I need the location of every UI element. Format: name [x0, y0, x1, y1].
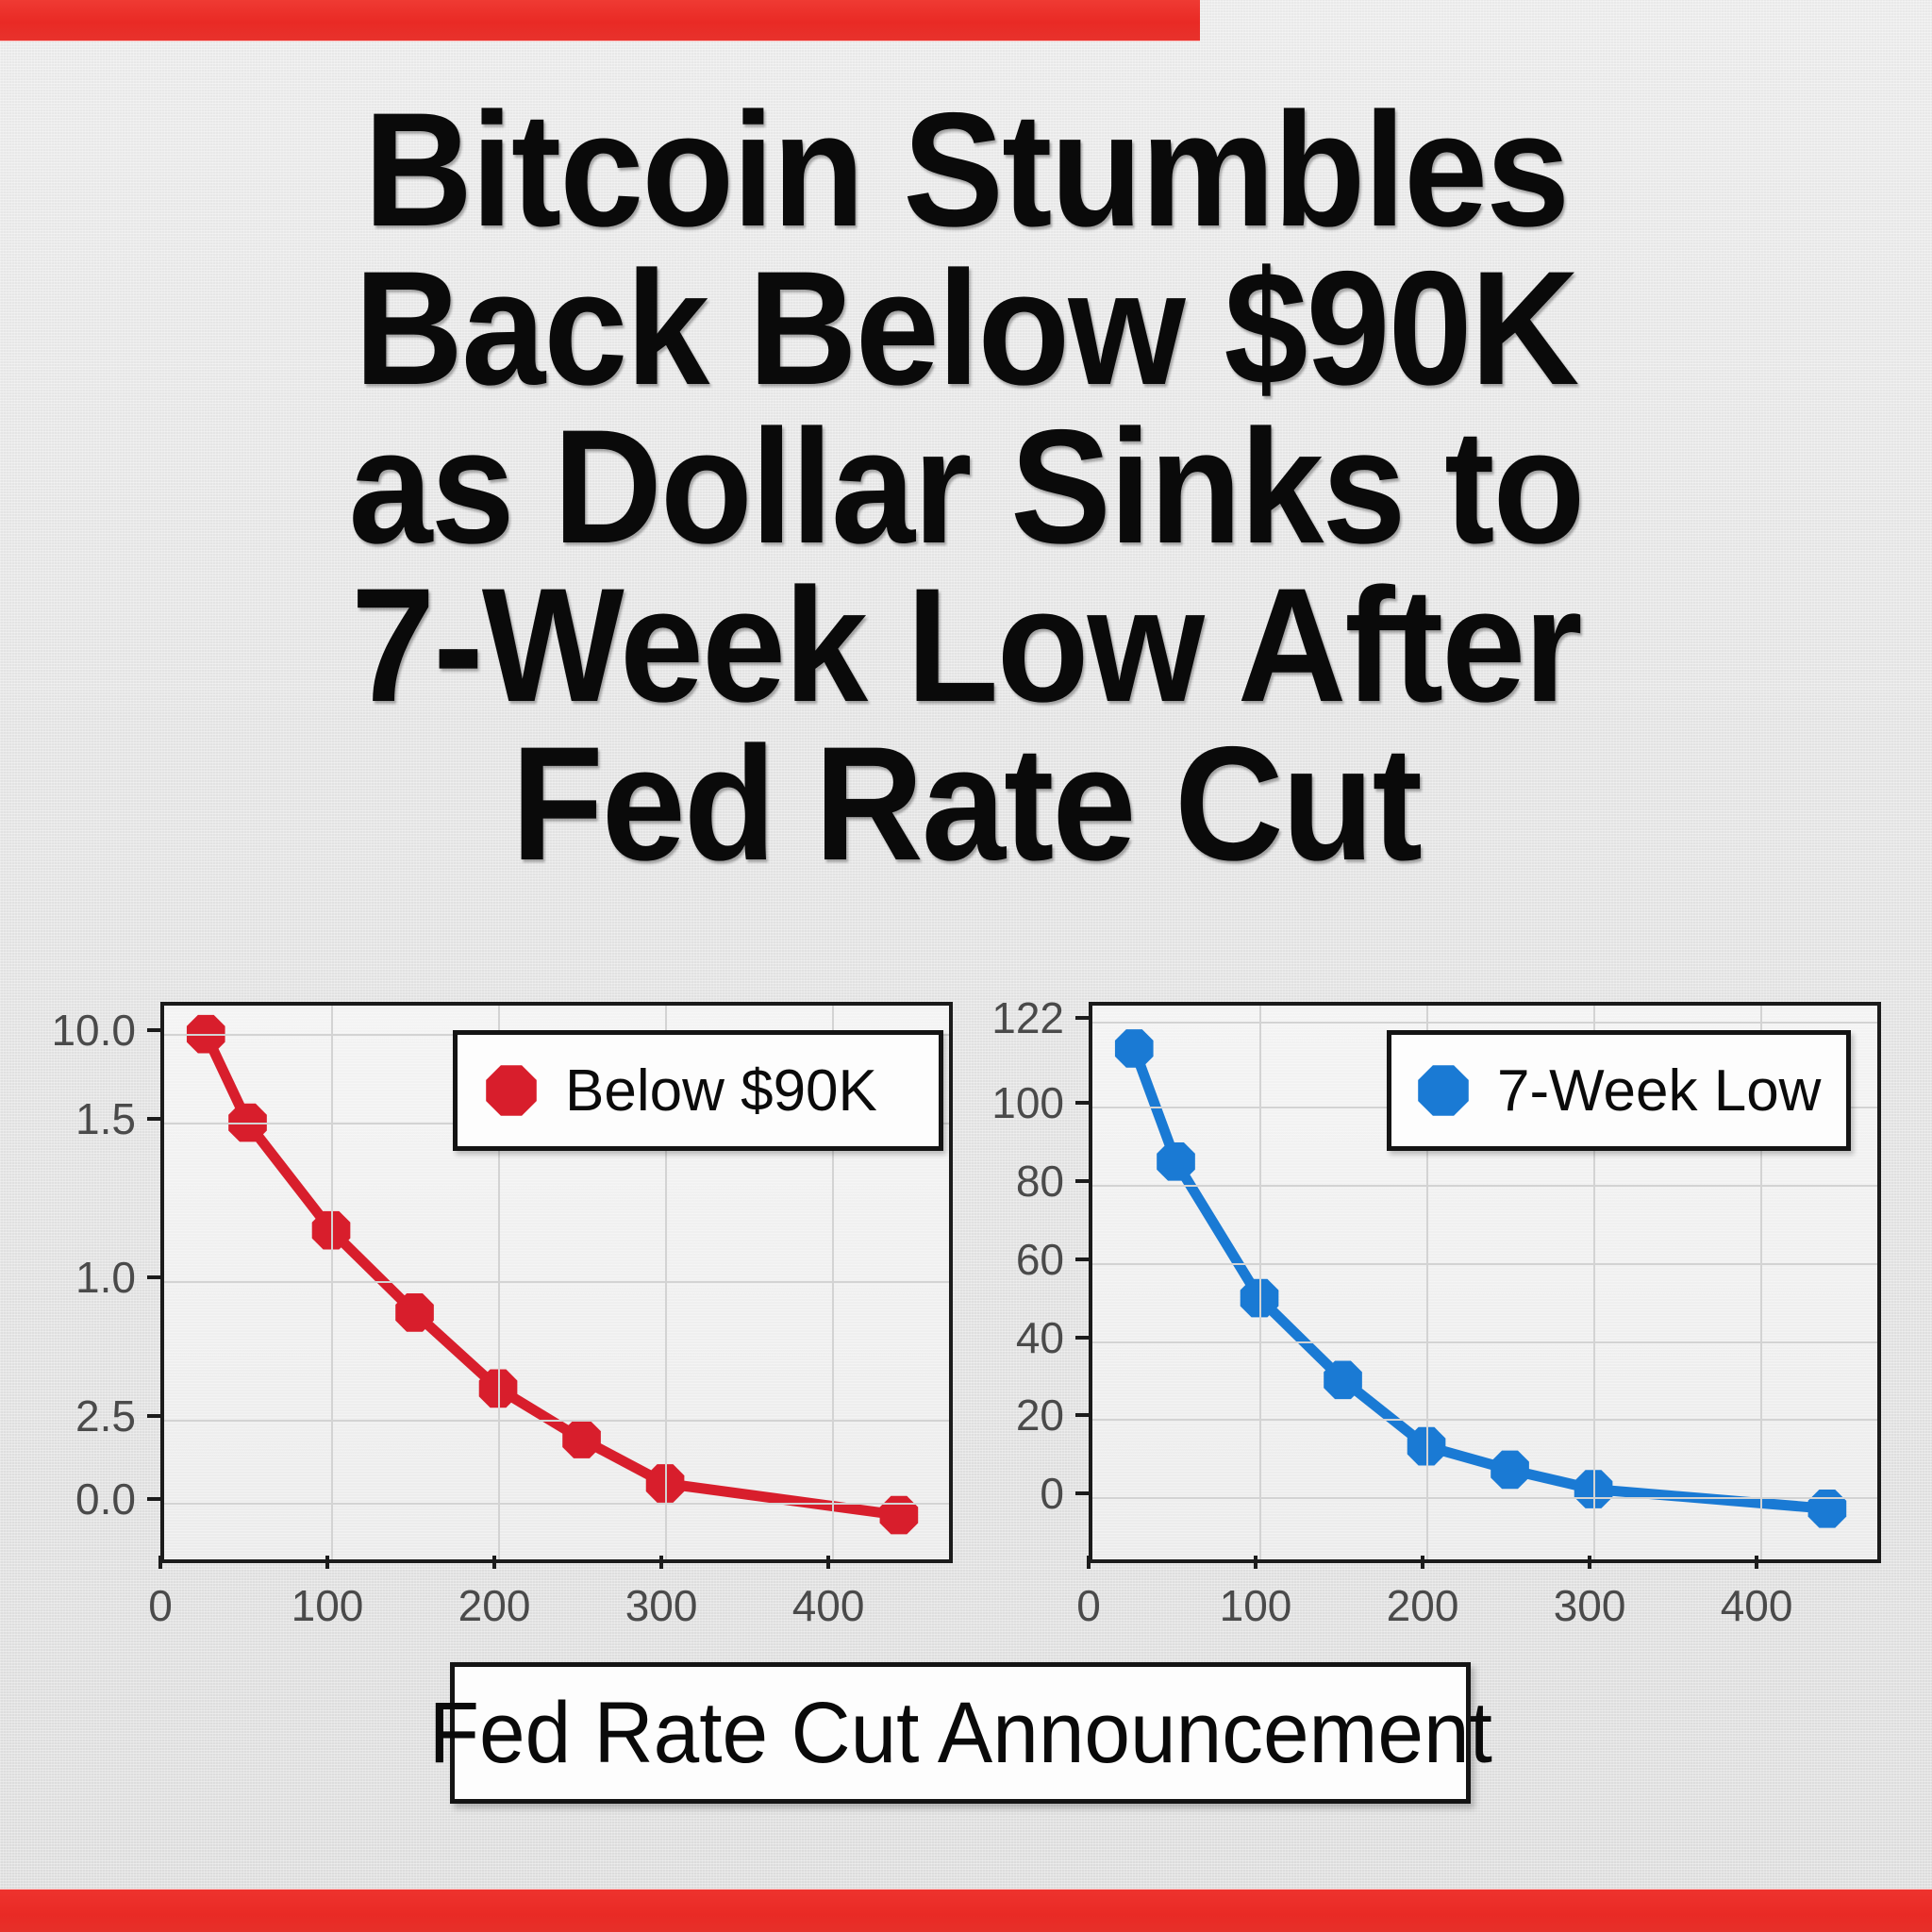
x-tick-mark	[1755, 1556, 1758, 1569]
data-point-marker	[1157, 1142, 1195, 1181]
caption-banner: Fed Rate Cut Announcement	[450, 1662, 1471, 1804]
charts-region: Below $90K 10.01.51.02.50.00100200300400…	[0, 981, 1932, 1679]
x-tick-mark	[826, 1556, 830, 1569]
gridline-vertical	[1259, 1006, 1261, 1559]
y-tick-label: 1.5	[0, 1093, 136, 1144]
y-tick-mark	[1075, 1413, 1089, 1417]
y-tick-label: 100	[966, 1077, 1064, 1128]
data-point-marker	[562, 1420, 601, 1458]
y-tick-mark	[1075, 1016, 1089, 1020]
chart-panel-left: Below $90K 10.01.51.02.50.00100200300400	[0, 981, 966, 1679]
y-tick-label: 10.0	[0, 1005, 136, 1056]
x-tick-mark	[659, 1556, 663, 1569]
y-tick-label: 2.5	[0, 1391, 136, 1441]
y-tick-label: 0	[966, 1468, 1064, 1519]
x-tick-mark	[158, 1556, 162, 1569]
x-tick-mark	[1421, 1556, 1424, 1569]
x-tick-label: 300	[1554, 1580, 1626, 1631]
y-tick-label: 20	[966, 1390, 1064, 1441]
y-tick-mark	[1075, 1336, 1089, 1340]
legend-marker-icon-left	[482, 1061, 541, 1120]
data-point-marker	[1115, 1029, 1154, 1068]
legend-left[interactable]: Below $90K	[453, 1030, 943, 1151]
poster-canvas: Bitcoin Stumbles Back Below $90K as Doll…	[0, 0, 1932, 1932]
y-tick-label: 80	[966, 1156, 1064, 1207]
x-tick-label: 0	[1076, 1580, 1101, 1631]
y-tick-label: 0.0	[0, 1474, 136, 1524]
y-tick-label: 1.0	[0, 1252, 136, 1303]
y-tick-mark	[1075, 1179, 1089, 1183]
legend-marker-icon-right	[1414, 1061, 1473, 1120]
legend-label-left: Below $90K	[565, 1058, 877, 1124]
y-tick-label: 122	[966, 992, 1064, 1043]
x-tick-label: 300	[625, 1580, 698, 1631]
gridline-vertical	[331, 1006, 333, 1559]
legend-right[interactable]: 7-Week Low	[1387, 1030, 1851, 1151]
y-tick-mark	[147, 1497, 160, 1501]
x-tick-label: 100	[291, 1580, 364, 1631]
x-tick-label: 200	[458, 1580, 531, 1631]
data-point-marker	[1491, 1451, 1529, 1490]
y-tick-label: 60	[966, 1234, 1064, 1285]
data-point-marker	[1324, 1361, 1362, 1400]
x-tick-mark	[325, 1556, 329, 1569]
x-tick-mark	[1254, 1556, 1257, 1569]
y-tick-mark	[147, 1028, 160, 1032]
caption-label: Fed Rate Cut Announcement	[428, 1684, 1491, 1783]
x-tick-label: 400	[1721, 1580, 1793, 1631]
y-tick-mark	[147, 1414, 160, 1418]
y-tick-mark	[147, 1117, 160, 1121]
y-tick-mark	[1075, 1101, 1089, 1105]
x-tick-label: 0	[148, 1580, 173, 1631]
chart-panel-right: 7-Week Low 1221008060402000100200300400	[966, 981, 1932, 1679]
data-point-marker	[395, 1293, 434, 1332]
x-tick-mark	[1087, 1556, 1091, 1569]
x-tick-mark	[1588, 1556, 1591, 1569]
x-tick-label: 100	[1220, 1580, 1292, 1631]
y-tick-mark	[1075, 1257, 1089, 1261]
data-point-marker	[1808, 1490, 1847, 1528]
top-accent-bar	[0, 0, 1200, 41]
y-tick-label: 40	[966, 1312, 1064, 1363]
bottom-accent-bar	[0, 1890, 1932, 1932]
y-tick-mark	[147, 1275, 160, 1279]
legend-label-right: 7-Week Low	[1497, 1058, 1821, 1124]
x-tick-mark	[492, 1556, 496, 1569]
page-title: Bitcoin Stumbles Back Below $90K as Doll…	[68, 91, 1865, 883]
x-tick-label: 400	[792, 1580, 865, 1631]
y-tick-mark	[1075, 1491, 1089, 1495]
x-tick-label: 200	[1387, 1580, 1459, 1631]
